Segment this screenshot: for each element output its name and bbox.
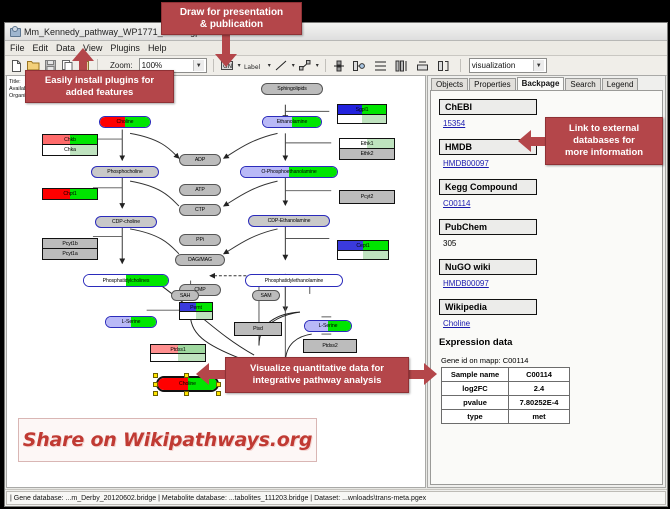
section-header-pubchem: PubChem <box>439 219 537 235</box>
gene-sgpl1[interactable]: Sgpl1 <box>337 104 387 116</box>
node-label: ATP <box>195 187 204 193</box>
cell-key: type <box>442 410 509 424</box>
gene-label: Pemt <box>180 303 212 312</box>
callout-plugins: Easily install plugins for added feature… <box>25 70 174 103</box>
pathvisio-icon <box>9 26 20 37</box>
label-dropdown-icon[interactable]: ▾ <box>268 62 271 69</box>
cell-key: Sample name <box>442 368 509 382</box>
gene-label: Pcyt2 <box>340 191 394 203</box>
selection-handle[interactable] <box>216 391 221 396</box>
gene-label: Ptdss1 <box>151 345 205 354</box>
cell-key: pvalue <box>442 396 509 410</box>
gene-label: Pisd <box>235 323 281 335</box>
title-bar: Mm_Kennedy_pathway_WP1771_45176.gpml <box>5 23 667 41</box>
node-atp[interactable]: ATP <box>179 184 221 196</box>
link-nugo[interactable]: HMDB00097 <box>443 279 654 288</box>
visualization-combo[interactable]: visualization ▼ <box>469 58 547 73</box>
node-label: Phosphocholine <box>107 169 143 175</box>
node-label: CDP-choline <box>112 219 140 225</box>
node-label: Sphingolipids <box>277 86 307 92</box>
screenshot-root: Mm_Kennedy_pathway_WP1771_45176.gpml Fil… <box>0 0 670 509</box>
node-label: Choline <box>117 119 134 125</box>
gene-cept1-lower[interactable] <box>337 250 389 260</box>
node-label: SAH <box>180 293 190 299</box>
tab-search[interactable]: Search <box>565 78 600 90</box>
tab-properties[interactable]: Properties <box>469 78 515 90</box>
node-label: L-Serine <box>122 319 141 325</box>
node-label: CTP <box>195 207 205 213</box>
callout-visualize-arrow-right-icon <box>424 363 437 385</box>
selection-handle[interactable] <box>184 391 189 396</box>
side-panel-tabs: Objects Properties Backpage Search Legen… <box>428 76 665 90</box>
node-label: CDP-Ethanolamine <box>268 218 311 224</box>
gene-chpt1[interactable]: Chpt1 <box>42 188 98 200</box>
menu-item-edit[interactable]: Edit <box>33 43 49 53</box>
label-icon[interactable]: Label <box>244 59 264 73</box>
table-row: pvalue 7.80252E-4 <box>442 396 570 410</box>
gene-pemt-lower[interactable] <box>179 311 213 320</box>
toolbar-separator-4 <box>460 59 461 72</box>
svg-text:Label: Label <box>244 64 261 71</box>
cell-value: C00114 <box>509 368 570 382</box>
node-cdp-ethanolamine[interactable]: CDP-Ethanolamine <box>248 215 330 227</box>
node-ethanolamine-top[interactable]: Ethanolamine <box>262 116 322 128</box>
gene-pisd[interactable]: Pisd <box>234 322 282 336</box>
node-phosphocholine[interactable]: Phosphocholine <box>91 166 159 178</box>
table-row: type met <box>442 410 570 424</box>
callout-draw: Draw for presentation & publication <box>161 2 302 35</box>
new-file-icon[interactable] <box>9 59 23 73</box>
gene-label: Ethk2 <box>340 149 394 159</box>
selection-handle[interactable] <box>153 373 158 378</box>
node-phosphatidylcholines[interactable]: Phosphatidylcholines <box>83 274 169 287</box>
selection-handle[interactable] <box>184 373 189 378</box>
callout-visualize: Visualize quantitative data for integrat… <box>225 357 409 393</box>
node-label: ADP <box>195 157 205 163</box>
order-icon[interactable] <box>416 59 430 73</box>
value-pubchem: 305 <box>443 239 654 248</box>
node-label: O-Phosphoethanolamine <box>261 169 316 175</box>
callout-plugins-arrow-icon <box>72 48 94 61</box>
table-row: Sample name C00114 <box>442 368 570 382</box>
node-label: SAM <box>261 293 272 299</box>
gene-pemt[interactable]: Pemt <box>179 302 213 313</box>
anchor-dropdown-icon[interactable]: ▾ <box>316 62 319 69</box>
callout-draw-arrow-icon <box>215 54 237 67</box>
node-ppi[interactable]: PPi <box>179 234 221 246</box>
anchor-icon[interactable] <box>298 59 312 73</box>
gene-ptdss1[interactable]: Ptdss1 <box>150 344 206 355</box>
gene-label: Pcyt1b <box>43 239 97 249</box>
tab-objects[interactable]: Objects <box>431 78 468 90</box>
gene-chka[interactable]: Chka <box>42 144 98 156</box>
chevron-down-icon[interactable]: ▼ <box>193 60 204 71</box>
cell-value: 7.80252E-4 <box>509 396 570 410</box>
callout-draw-stem <box>222 35 230 56</box>
node-sphingolipids[interactable]: Sphingolipids <box>261 83 323 95</box>
gene-pcyt2[interactable]: Pcyt2 <box>339 190 395 204</box>
selection-handle[interactable] <box>153 391 158 396</box>
selection-handle[interactable] <box>153 382 158 387</box>
gene-label: Sgpl1 <box>338 105 386 115</box>
gene-label: Ptdss2 <box>304 340 356 352</box>
gene-label: Cept1 <box>338 241 388 251</box>
node-cdp-choline[interactable]: CDP-choline <box>95 216 157 228</box>
distribute-icon[interactable] <box>374 59 388 73</box>
bracket-icon[interactable] <box>437 59 451 73</box>
gene-label: Chpt1 <box>43 189 97 199</box>
align-icon[interactable] <box>332 59 346 73</box>
gene-id-line: Gene id on mapp: C00114 <box>441 356 654 365</box>
section-header-wikipedia: Wikipedia <box>439 299 537 315</box>
node-ctp[interactable]: CTP <box>179 204 221 216</box>
gene-label: Chkb <box>43 135 97 145</box>
node-label: Phosphatidylethanolamine <box>265 278 323 284</box>
status-bar: | Gene database: ...m_Derby_20120602.bri… <box>5 489 667 506</box>
toolbar-separator-3 <box>325 59 326 72</box>
zoom-label: Zoom: <box>110 61 133 70</box>
node-label: PPi <box>196 237 204 243</box>
node-label: L-Serine <box>319 323 338 329</box>
datanode-dropdown-icon[interactable]: ▾ <box>238 62 241 69</box>
gene-ptdss2[interactable]: Ptdss2 <box>303 339 357 353</box>
tab-legend[interactable]: Legend <box>602 78 639 90</box>
node-label: CMP <box>194 287 205 293</box>
gene-ethk2[interactable]: Ethk2 <box>339 148 395 160</box>
node-label: DAG/MAG <box>188 257 212 263</box>
link-kegg[interactable]: C00114 <box>443 199 654 208</box>
section-header-nugo: NuGO wiki <box>439 259 537 275</box>
menu-item-file[interactable]: File <box>10 43 25 53</box>
cell-value: 2.4 <box>509 382 570 396</box>
cell-key: log2FC <box>442 382 509 396</box>
node-adp[interactable]: ADP <box>179 154 221 166</box>
selection-handle[interactable] <box>216 382 221 387</box>
link-wikipedia[interactable]: Choline <box>443 319 654 328</box>
gene-label: Ethk1 <box>340 139 394 149</box>
gene-sgpl1-lower[interactable] <box>337 114 387 124</box>
node-choline-top[interactable]: Choline <box>99 116 151 128</box>
callout-links-arrow-icon <box>518 130 531 152</box>
callout-visualize-arrow-left-icon <box>196 363 209 385</box>
node-dag-mag[interactable]: DAG/MAG <box>175 254 225 266</box>
node-label: Choline <box>179 381 196 387</box>
node-label: Phosphatidylcholines <box>103 278 150 284</box>
gene-cept1[interactable]: Cept1 <box>337 240 389 252</box>
line-icon[interactable] <box>274 59 288 73</box>
gene-label: Pcyt1a <box>43 249 97 259</box>
menu-item-plugins[interactable]: Plugins <box>110 43 140 53</box>
gene-label: Chka <box>43 145 97 155</box>
status-text: | Gene database: ...m_Derby_20120602.bri… <box>6 491 666 505</box>
menu-item-help[interactable]: Help <box>148 43 167 53</box>
table-row: log2FC 2.4 <box>442 382 570 396</box>
callout-links: Link to external databases for more info… <box>545 117 663 165</box>
gene-ptdss1-lower[interactable] <box>150 353 206 362</box>
line-dropdown-icon[interactable]: ▾ <box>292 62 295 69</box>
expression-table: Sample name C00114 log2FC 2.4 pvalue 7.8… <box>441 367 570 424</box>
menu-bar: File Edit Data View Plugins Help <box>5 41 667 56</box>
callout-share: Share on Wikipathways.org <box>18 418 317 462</box>
node-l-serine-right[interactable]: L-Serine <box>304 320 352 332</box>
node-label: Ethanolamine <box>277 119 308 125</box>
visualization-chevron-down-icon[interactable]: ▼ <box>533 60 544 71</box>
visualization-value: visualization <box>472 61 533 70</box>
node-sam[interactable]: SAM <box>252 290 280 301</box>
node-l-serine-left[interactable]: L-Serine <box>105 316 157 328</box>
cell-value: met <box>509 410 570 424</box>
zoom-value: 100% <box>142 61 193 70</box>
node-phosphatidylethanolamine[interactable]: Phosphatidylethanolamine <box>245 274 343 287</box>
stack-icon[interactable] <box>395 59 409 73</box>
group-icon[interactable] <box>353 59 367 73</box>
section-header-kegg: Kegg Compound <box>439 179 537 195</box>
node-o-phosphoethanolamine[interactable]: O-Phosphoethanolamine <box>240 166 338 178</box>
section-header-chebi: ChEBI <box>439 99 537 115</box>
callout-share-text: Share on Wikipathways.org <box>23 429 312 451</box>
toolbar-separator-2 <box>213 59 214 72</box>
expression-data-heading: Expression data <box>439 337 654 348</box>
gene-pcyt1a[interactable]: Pcyt1a <box>42 248 98 260</box>
tab-backpage[interactable]: Backpage <box>517 77 565 90</box>
